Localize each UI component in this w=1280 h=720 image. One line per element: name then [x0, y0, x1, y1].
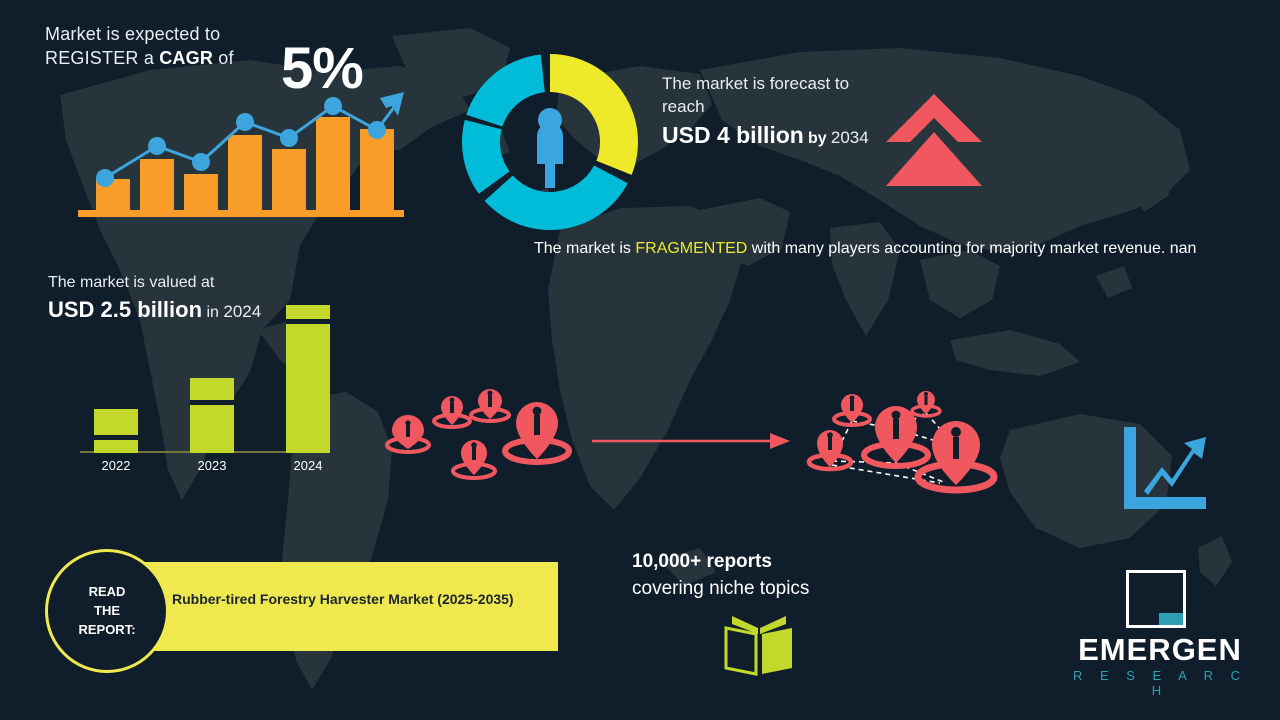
green-bar-label-2024: 2024 — [286, 458, 330, 473]
donut-slice-cyan-2 — [462, 120, 510, 194]
donut-slice-cyan-3 — [466, 55, 545, 127]
logo-wordmark: EMERGEN — [1060, 632, 1260, 668]
map-pin-icon — [809, 430, 851, 469]
green-bar-2024-divider — [286, 319, 330, 324]
report-title: Rubber-tired Forestry Harvester Market (… — [172, 584, 522, 615]
growth-chart-icon — [1122, 425, 1208, 515]
connected-players-pin-network — [790, 385, 1010, 505]
read-report-badge-label: READ THE REPORT: — [48, 582, 166, 639]
logo-mark-icon — [1126, 570, 1186, 628]
cagr-label-line2-pre: REGISTER a — [45, 48, 159, 68]
green-bar-2022 — [94, 409, 138, 453]
open-book-icon — [722, 612, 796, 678]
scattered-players-pin-cluster — [380, 385, 580, 495]
bar-series — [96, 117, 394, 211]
green-bar-2024 — [286, 305, 330, 453]
forecast-value: USD 4 billion — [662, 122, 804, 148]
fragmented-statement: The market is FRAGMENTED with many playe… — [534, 236, 1214, 261]
green-bar-label-2023: 2023 — [190, 458, 234, 473]
growth-arrow — [1144, 437, 1206, 495]
map-pin-icon — [912, 391, 940, 416]
chart-baseline — [78, 210, 404, 217]
green-bar-2023-divider — [190, 400, 234, 405]
forecast-by-label: by — [808, 130, 827, 147]
right-arrow-icon — [592, 430, 792, 452]
fragmented-pre: The market is — [534, 240, 635, 257]
map-pin-icon — [434, 396, 470, 427]
forecast-year: 2034 — [831, 128, 869, 147]
logo-accent-bar — [1159, 613, 1183, 625]
read-report-banner[interactable]: Rubber-tired Forestry Harvester Market (… — [108, 562, 558, 651]
book-left-cover — [726, 628, 756, 674]
reports-count-line1: 10,000+ reports — [632, 548, 932, 575]
map-pin-icon — [387, 415, 429, 452]
double-up-arrow-icon — [884, 90, 984, 190]
read-report-line1: READ — [48, 582, 166, 601]
donut-slice-cyan-1 — [485, 166, 628, 231]
read-report-badge[interactable]: READ THE REPORT: — [45, 549, 169, 673]
map-pin-icon — [471, 389, 509, 421]
donut-slice-yellow — [550, 54, 638, 175]
reports-count-line2: covering niche topics — [632, 575, 932, 602]
fragmented-keyword: FRAGMENTED — [635, 240, 747, 257]
read-report-line2: THE — [48, 601, 166, 620]
market-value-bar-chart: 2022 2023 2024 — [80, 295, 340, 475]
green-bar-2023 — [190, 378, 234, 453]
cagr-stat-block: Market is expected to REGISTER a CAGR of… — [45, 22, 465, 70]
cagr-label-line2-post: of — [213, 48, 234, 68]
map-pin-icon — [505, 402, 569, 462]
fragmented-post: with many players accounting for majorit… — [747, 240, 1196, 257]
person-icon — [537, 108, 563, 188]
logo-subtitle: R E S E A R C H — [1060, 668, 1260, 698]
cagr-label: Market is expected to REGISTER a CAGR of — [45, 22, 465, 70]
growth-axis — [1124, 427, 1206, 509]
reports-count-block: 10,000+ reports covering niche topics — [632, 548, 932, 602]
cagr-label-line1: Market is expected to — [45, 22, 465, 46]
market-share-donut — [460, 52, 640, 232]
map-pin-icon — [834, 394, 870, 425]
infographic-canvas: Market is expected to REGISTER a CAGR of… — [0, 0, 1280, 720]
book-right-cover — [762, 628, 792, 674]
growth-trend-bar-chart — [78, 88, 408, 220]
map-pin-icon — [453, 440, 495, 478]
cagr-label-line2: REGISTER a CAGR of — [45, 46, 465, 70]
green-bar-2022-divider — [94, 435, 138, 440]
valued-lead: The market is valued at — [48, 272, 378, 294]
cagr-keyword: CAGR — [159, 48, 213, 68]
read-report-line3: REPORT: — [48, 620, 166, 639]
green-bar-label-2022: 2022 — [94, 458, 138, 473]
